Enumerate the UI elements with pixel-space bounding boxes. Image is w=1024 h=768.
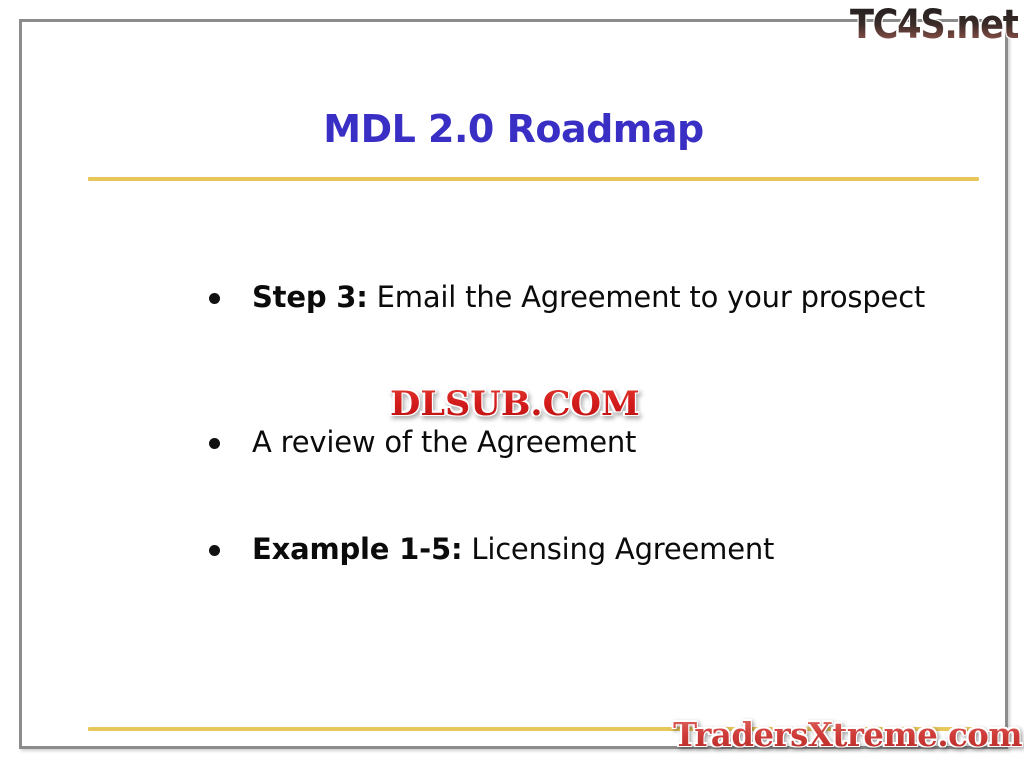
page-title: MDL 2.0 Roadmap bbox=[22, 107, 1005, 151]
divider-bottom bbox=[88, 727, 979, 731]
list-item: Example 1-5: Licensing Agreement bbox=[200, 527, 960, 572]
list-item: A review of the Agreement bbox=[200, 420, 960, 465]
list-item-text: Licensing Agreement bbox=[462, 532, 774, 566]
list-item-lead: Step 3: bbox=[252, 280, 368, 314]
bullet-dot-icon bbox=[209, 438, 220, 449]
divider-top bbox=[88, 177, 979, 181]
bullet-dot-icon bbox=[209, 545, 220, 556]
list-item-text: Email the Agreement to your prospect bbox=[368, 280, 925, 314]
list-item-lead: Example 1-5: bbox=[252, 532, 462, 566]
list-item: Step 3: Email the Agreement to your pros… bbox=[200, 275, 960, 320]
bullet-list: Step 3: Email the Agreement to your pros… bbox=[200, 275, 960, 572]
bullet-dot-icon bbox=[209, 293, 220, 304]
slide-frame: MDL 2.0 Roadmap Step 3: Email the Agreem… bbox=[19, 19, 1008, 749]
slide-page: { "slide": { "title": "MDL 2.0 Roadmap",… bbox=[0, 0, 1024, 768]
list-item-text: A review of the Agreement bbox=[252, 425, 636, 459]
